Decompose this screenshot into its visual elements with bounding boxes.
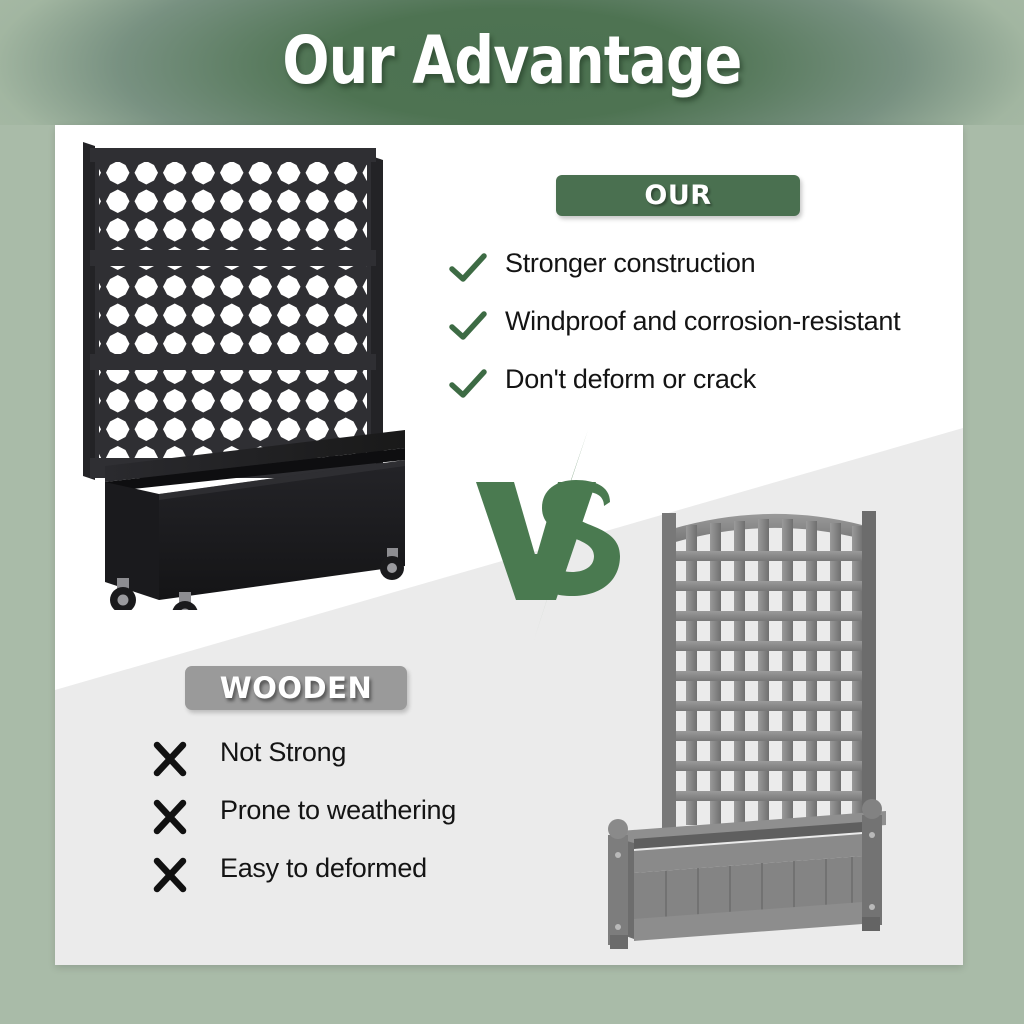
wooden-planter-box	[608, 799, 886, 949]
product-image-theirs	[600, 495, 935, 950]
our-badge: OUR	[556, 175, 800, 216]
pro-item-label: Don't deform or crack	[505, 364, 756, 395]
comparison-card: OUR Stronger construction Windproof and …	[55, 125, 963, 965]
con-item-label: Easy to deformed	[220, 853, 427, 884]
product-image-ours	[75, 130, 445, 610]
wooden-lattice	[662, 511, 876, 831]
page-header: Our Advantage	[0, 0, 1024, 125]
wooden-badge-label: WOODEN	[185, 666, 407, 710]
x-icon	[150, 740, 190, 778]
page-title: Our Advantage	[82, 25, 942, 97]
con-item-label: Not Strong	[220, 737, 346, 768]
wooden-badge: WOODEN	[185, 666, 407, 710]
pro-item-label: Windproof and corrosion-resistant	[505, 306, 900, 337]
con-item-label: Prone to weathering	[220, 795, 456, 826]
metal-trellis-panel	[83, 142, 383, 482]
check-icon	[448, 310, 488, 344]
check-icon	[448, 368, 488, 402]
x-icon	[150, 798, 190, 836]
x-icon	[150, 856, 190, 894]
check-icon	[448, 252, 488, 286]
our-badge-label: OUR	[556, 175, 800, 216]
pro-item-label: Stronger construction	[505, 248, 755, 279]
